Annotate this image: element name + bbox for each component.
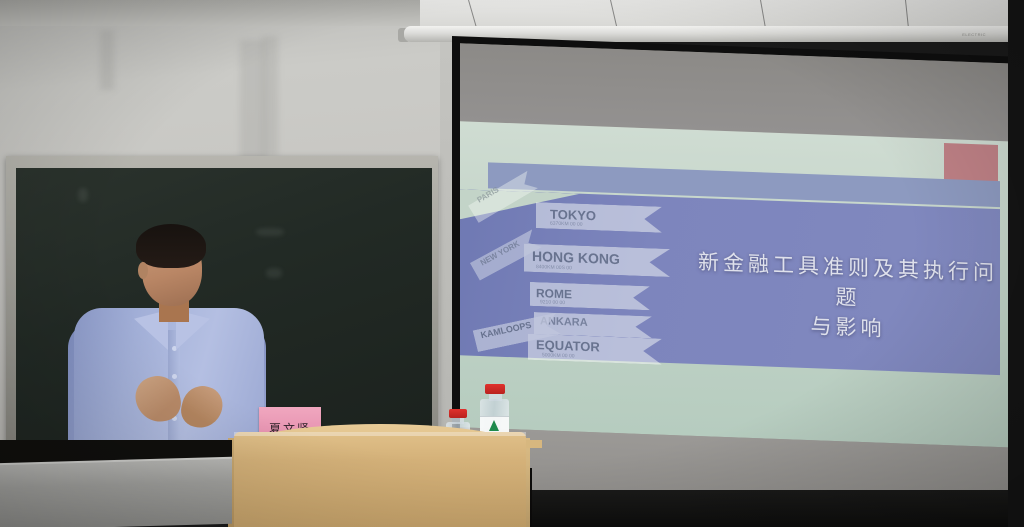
pennant-sub-hong-kong: 8400KM 00S 00 — [536, 264, 572, 271]
slide-title-text: 新金融工具准则及其执行问题 与影响 — [692, 248, 1004, 349]
pennant-sub-equator: 5000KM 00 00 — [542, 352, 575, 359]
projection-surface: TOKYO 6370KM 00 00 HONG KONG 8400KM 00S … — [460, 43, 1008, 525]
wall-top-shadow — [0, 0, 460, 26]
roller-brand-label: ELECTRIC — [962, 32, 986, 37]
pine-tree-logo-icon — [489, 420, 499, 431]
foreground-desk[interactable] — [0, 459, 232, 527]
pennant-sub-tokyo: 6370KM 00 00 — [550, 221, 583, 228]
lecture-hall-photo: ELECTRIC TOKYO 6370KM 00 00 HONG KONG 84… — [0, 0, 1024, 527]
projector-screen[interactable]: TOKYO 6370KM 00 00 HONG KONG 8400KM 00S … — [452, 36, 1017, 527]
pennant-sub-rome: 9210 00 00 — [540, 299, 565, 306]
wall-streak — [100, 30, 114, 90]
speaker-hair — [136, 224, 206, 268]
wall-streak — [262, 36, 278, 156]
speaker-ear — [138, 262, 148, 279]
bottle-cap — [485, 384, 505, 394]
area-below-screen — [452, 490, 1018, 527]
bottle-cap — [449, 409, 467, 418]
pennant-cluster: TOKYO 6370KM 00 00 HONG KONG 8400KM 00S … — [478, 184, 728, 383]
lectern[interactable] — [234, 432, 526, 527]
shirt-button — [172, 374, 177, 379]
chalk-smudge — [78, 188, 88, 202]
right-edge-shadow — [1008, 0, 1024, 527]
lectern-top-edge — [234, 432, 526, 436]
